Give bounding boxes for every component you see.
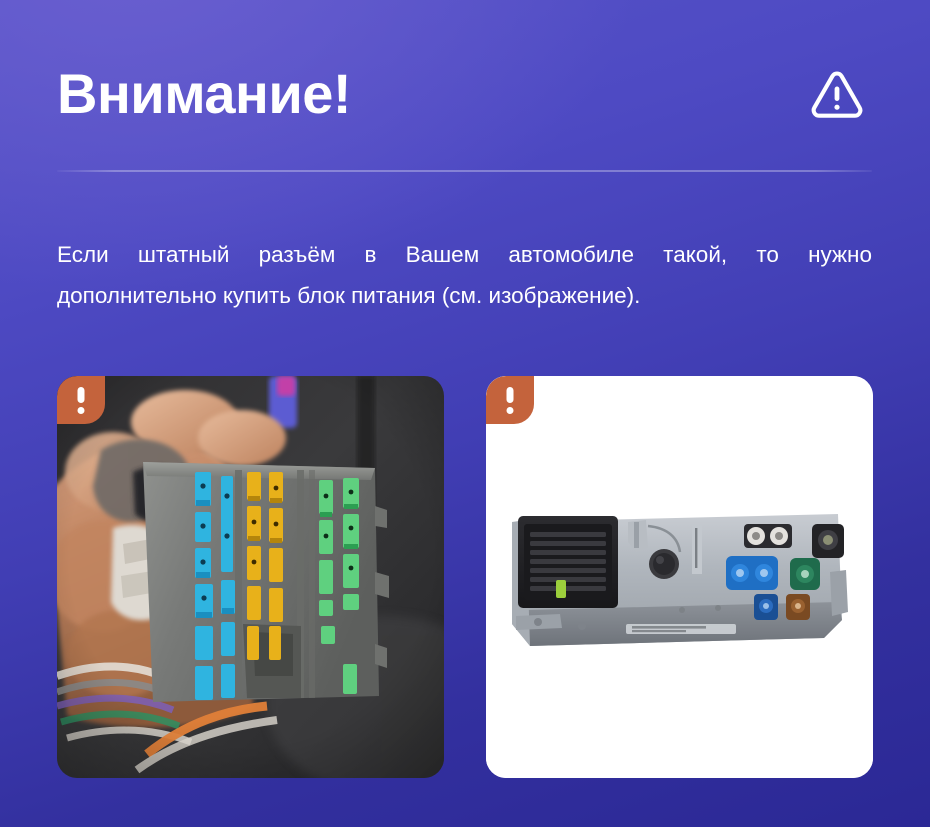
photo-card-row xyxy=(57,376,872,778)
exclamation-dot xyxy=(78,407,85,414)
header-divider xyxy=(57,170,872,172)
exclamation-dot xyxy=(507,407,514,414)
connector-photo-card[interactable] xyxy=(57,376,444,778)
warning-banner: Внимание! Если штатный разъём в Вашем ав… xyxy=(0,0,930,827)
banner-header: Внимание! xyxy=(57,52,872,136)
page-title: Внимание! xyxy=(57,66,351,122)
warning-triangle-icon xyxy=(808,65,866,123)
exclamation-icon xyxy=(486,376,534,424)
description-line-2: дополнительно купить блок питания (см. и… xyxy=(57,275,872,316)
power-supply-photo-image xyxy=(486,376,873,778)
exclamation-stem xyxy=(507,387,514,403)
power-supply-photo-card[interactable] xyxy=(486,376,873,778)
connector-photo-image xyxy=(57,376,444,778)
exclamation-stem xyxy=(78,387,85,403)
exclamation-icon xyxy=(57,376,105,424)
description-text: Если штатный разъём в Вашем автомобиле т… xyxy=(57,234,872,316)
description-line-1: Если штатный разъём в Вашем автомобиле т… xyxy=(57,234,872,275)
